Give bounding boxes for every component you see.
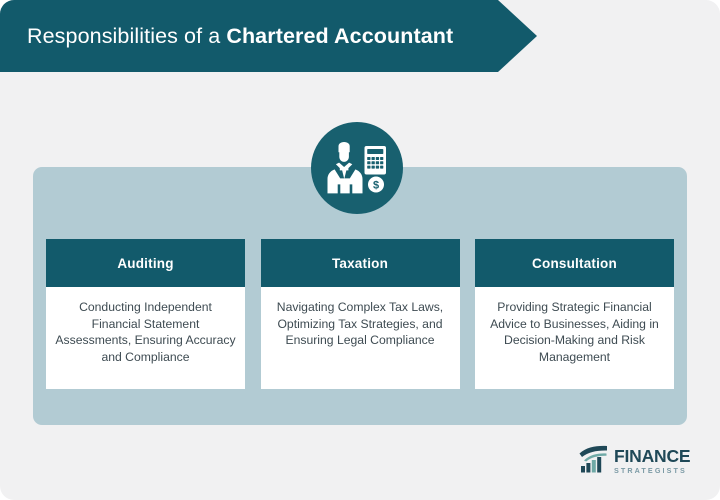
card-auditing: Auditing Conducting Independent Financia…	[46, 239, 245, 389]
page-title: Responsibilities of a Chartered Accounta…	[27, 0, 453, 72]
page-title-light: Responsibilities of a	[27, 24, 220, 49]
svg-text:$: $	[373, 180, 379, 192]
finance-strategists-mark-icon	[577, 444, 610, 479]
infographic-root: Responsibilities of a Chartered Accounta…	[0, 0, 720, 500]
page-title-bold: Chartered Accountant	[226, 24, 453, 49]
brand-tagline: STRATEGISTS	[614, 467, 690, 474]
card-taxation-title: Taxation	[261, 239, 460, 287]
brand-logo: FINANCE STRATEGISTS	[577, 441, 693, 481]
accountant-calculator-icon: $	[311, 122, 403, 214]
card-taxation: Taxation Navigating Complex Tax Laws, Op…	[261, 239, 460, 389]
card-auditing-title: Auditing	[46, 239, 245, 287]
responsibility-cards: Auditing Conducting Independent Financia…	[46, 239, 674, 389]
card-taxation-body: Navigating Complex Tax Laws, Optimizing …	[261, 287, 460, 389]
brand-name: FINANCE	[614, 448, 690, 466]
card-consultation-title: Consultation	[475, 239, 674, 287]
card-consultation-body: Providing Strategic Financial Advice to …	[475, 287, 674, 389]
brand-logo-text: FINANCE STRATEGISTS	[614, 448, 690, 475]
card-auditing-body: Conducting Independent Financial Stateme…	[46, 287, 245, 389]
card-consultation: Consultation Providing Strategic Financi…	[475, 239, 674, 389]
